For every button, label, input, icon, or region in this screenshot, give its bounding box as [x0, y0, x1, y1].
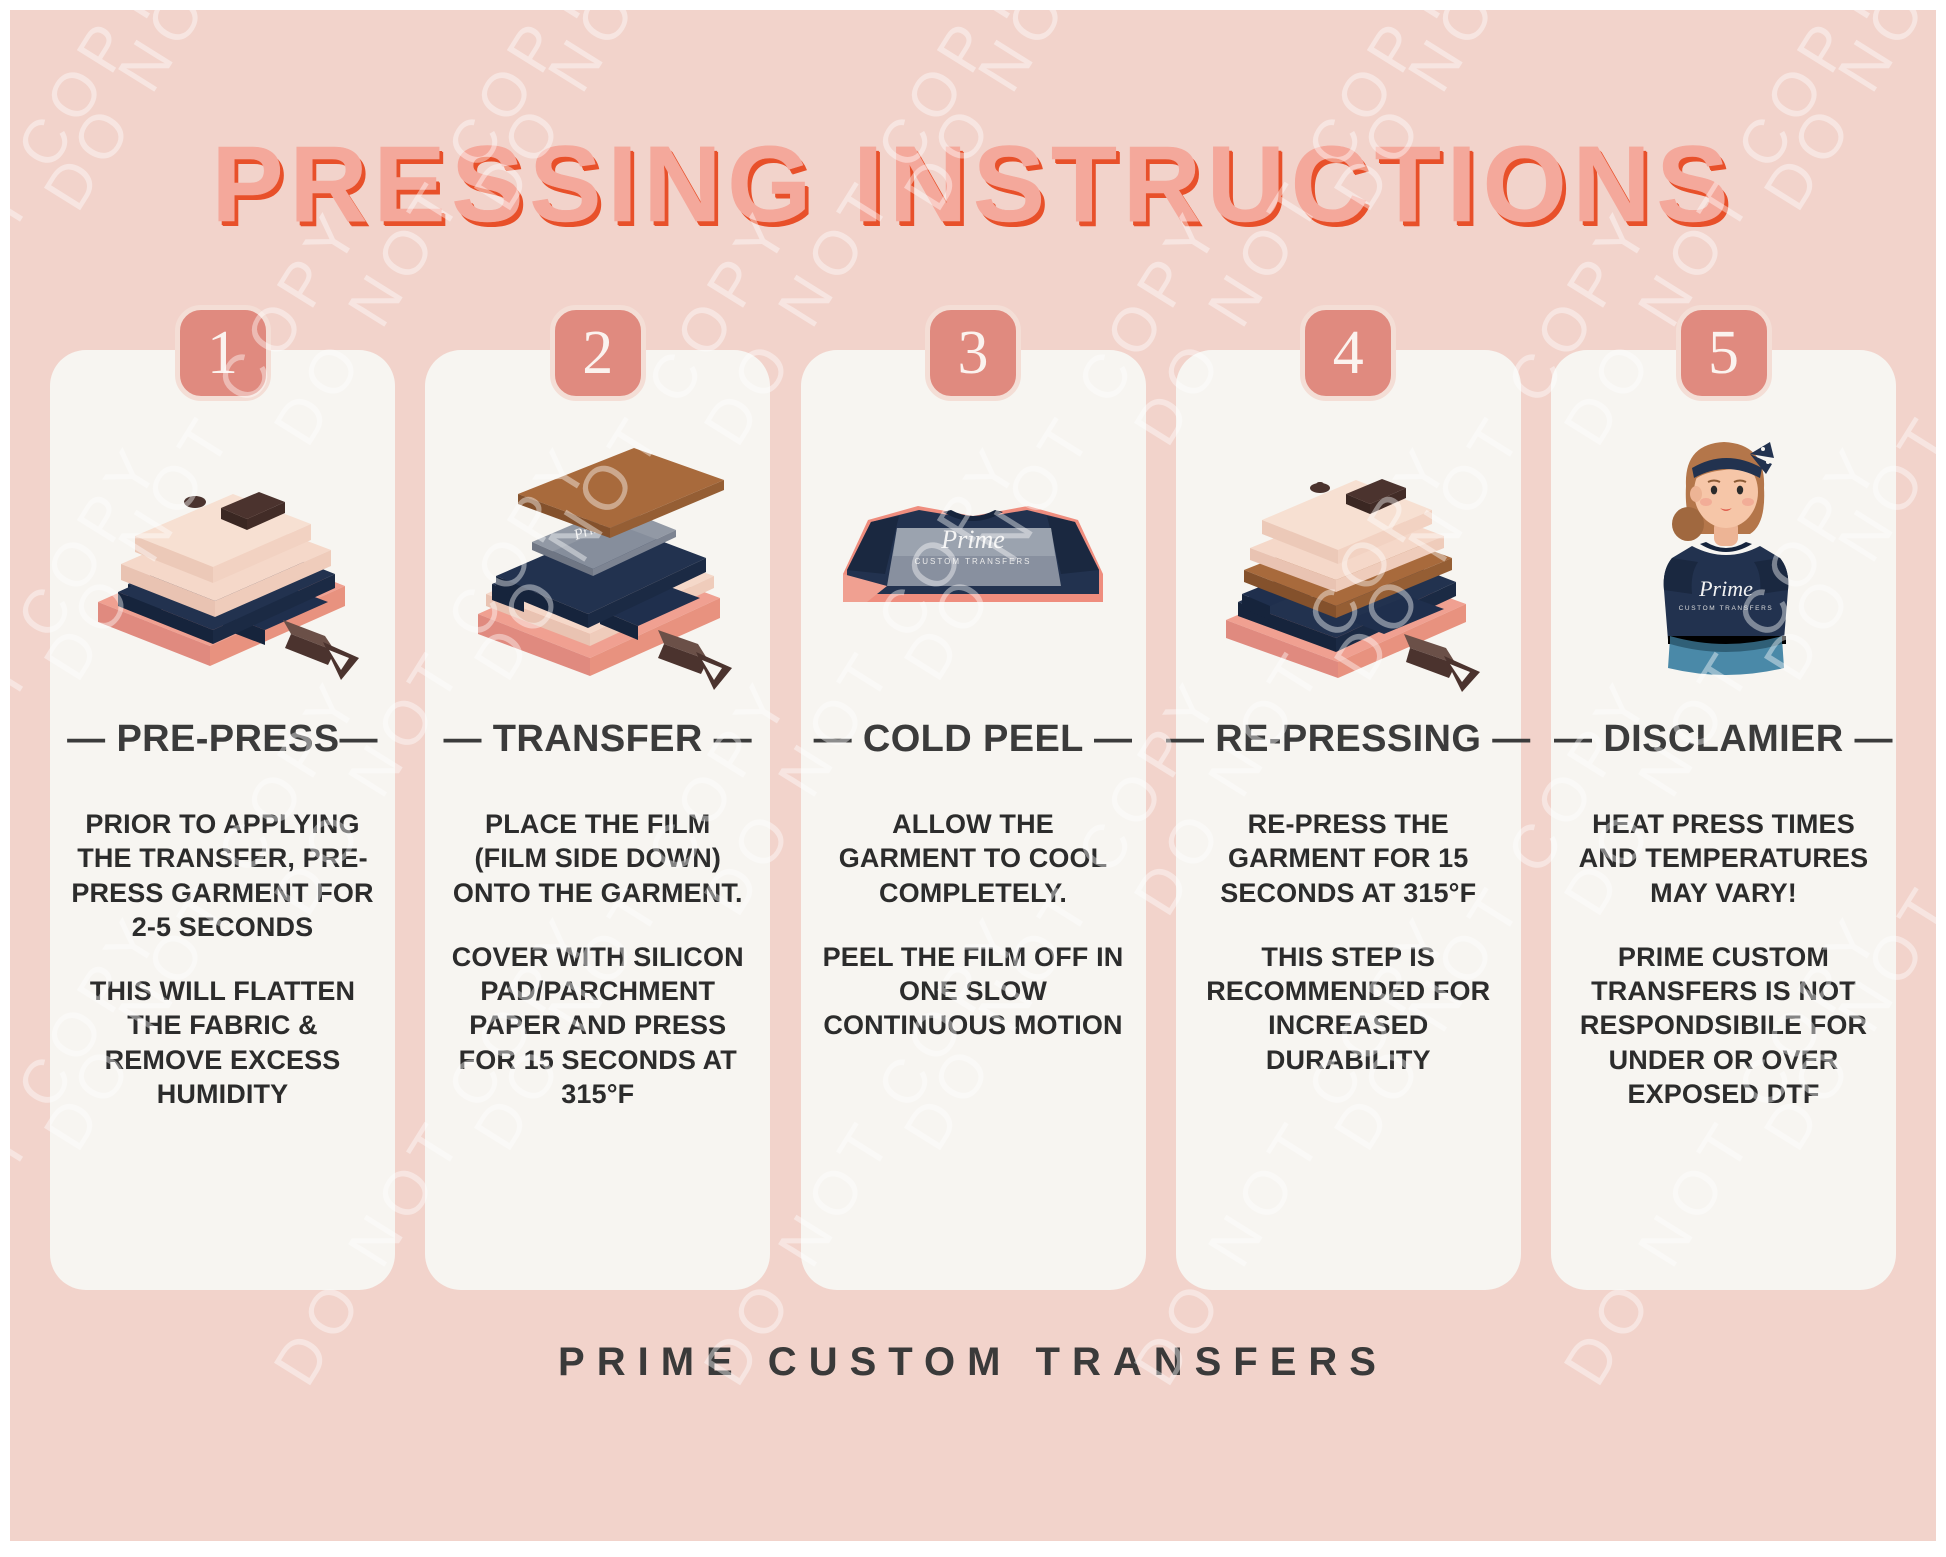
- step-card-5[interactable]: 5: [1551, 350, 1896, 1290]
- card-paragraph: RE-PRESS THE GARMENT FOR 15 SECONDS AT 3…: [1196, 807, 1501, 910]
- svg-text:CUSTOM TRANSFERS: CUSTOM TRANSFERS: [1678, 605, 1773, 612]
- step-number-badge-3: 3: [925, 305, 1021, 401]
- card-paragraph: PRIOR TO APPLYING THE TRANSFER, PRE-PRES…: [70, 807, 375, 944]
- card-paragraph: THIS STEP IS RECOMMENDED FOR INCREASED D…: [1196, 940, 1501, 1077]
- step-card-4[interactable]: 4 Prime: [1176, 350, 1521, 1290]
- svg-text:Prime: Prime: [940, 525, 1005, 554]
- page-title: PRESSING INSTRUCTIONS: [212, 130, 1735, 238]
- svg-text:CUSTOM TRANSFERS: CUSTOM TRANSFERS: [914, 557, 1031, 566]
- heat-press-closed-illustration: [73, 424, 373, 694]
- card-title-1: — PRE-PRESS—: [67, 718, 378, 761]
- card-title-5: — DISCLAMIER —: [1554, 718, 1893, 761]
- woman-wearing-shirt-illustration: Prime CUSTOM TRANSFERS: [1574, 424, 1874, 694]
- step-number-badge-2: 2: [550, 305, 646, 401]
- pressing-instructions-poster: DO NOT COPYDO NOT COPYDO NOT COPYDO NOT …: [0, 0, 1946, 1557]
- steps-row: 1: [50, 350, 1896, 1290]
- step-card-3[interactable]: 3: [801, 350, 1146, 1290]
- card-paragraph: PRIME CUSTOM TRANSFERS IS NOT RESPONDSIB…: [1571, 940, 1876, 1111]
- card-paragraph: THIS WILL FLATTEN THE FABRIC & REMOVE EX…: [70, 974, 375, 1111]
- card-body-4: RE-PRESS THE GARMENT FOR 15 SECONDS AT 3…: [1176, 807, 1521, 1077]
- step-number-badge-5: 5: [1676, 305, 1772, 401]
- step-number-badge-4: 4: [1300, 305, 1396, 401]
- card-title-3: — COLD PEEL —: [814, 718, 1133, 761]
- card-paragraph: PEEL THE FILM OFF IN ONE SLOW CONTINUOUS…: [821, 940, 1126, 1043]
- step-card-1[interactable]: 1: [50, 350, 395, 1290]
- card-paragraph: ALLOW THE GARMENT TO COOL COMPLETELY.: [821, 807, 1126, 910]
- card-title-2: — TRANSFER —: [443, 718, 752, 761]
- step-number-badge-1: 1: [175, 305, 271, 401]
- card-paragraph: COVER WITH SILICON PAD/PARCHMENT PAPER A…: [445, 940, 750, 1111]
- film-on-garment-illustration: Prime: [448, 424, 748, 694]
- card-body-1: PRIOR TO APPLYING THE TRANSFER, PRE-PRES…: [50, 807, 395, 1111]
- svg-text:Prime: Prime: [1698, 576, 1753, 601]
- cold-peel-shirt-illustration: Prime CUSTOM TRANSFERS: [823, 424, 1123, 694]
- card-body-3: ALLOW THE GARMENT TO COOL COMPLETELY. PE…: [801, 807, 1146, 1043]
- card-paragraph: PLACE THE FILM (FILM SIDE DOWN) ONTO THE…: [445, 807, 750, 910]
- footer-brand: PRIME CUSTOM TRANSFERS: [10, 1340, 1936, 1385]
- card-title-4: — RE-PRESSING —: [1166, 718, 1531, 761]
- poster-canvas: DO NOT COPYDO NOT COPYDO NOT COPYDO NOT …: [10, 10, 1936, 1541]
- card-body-2: PLACE THE FILM (FILM SIDE DOWN) ONTO THE…: [425, 807, 770, 1111]
- card-paragraph: HEAT PRESS TIMES AND TEMPERATURES MAY VA…: [1571, 807, 1876, 910]
- title-block: PRESSING INSTRUCTIONS: [10, 130, 1936, 238]
- re-press-stack-illustration: Prime: [1198, 424, 1498, 694]
- card-body-5: HEAT PRESS TIMES AND TEMPERATURES MAY VA…: [1551, 807, 1896, 1111]
- step-card-2[interactable]: 2: [425, 350, 770, 1290]
